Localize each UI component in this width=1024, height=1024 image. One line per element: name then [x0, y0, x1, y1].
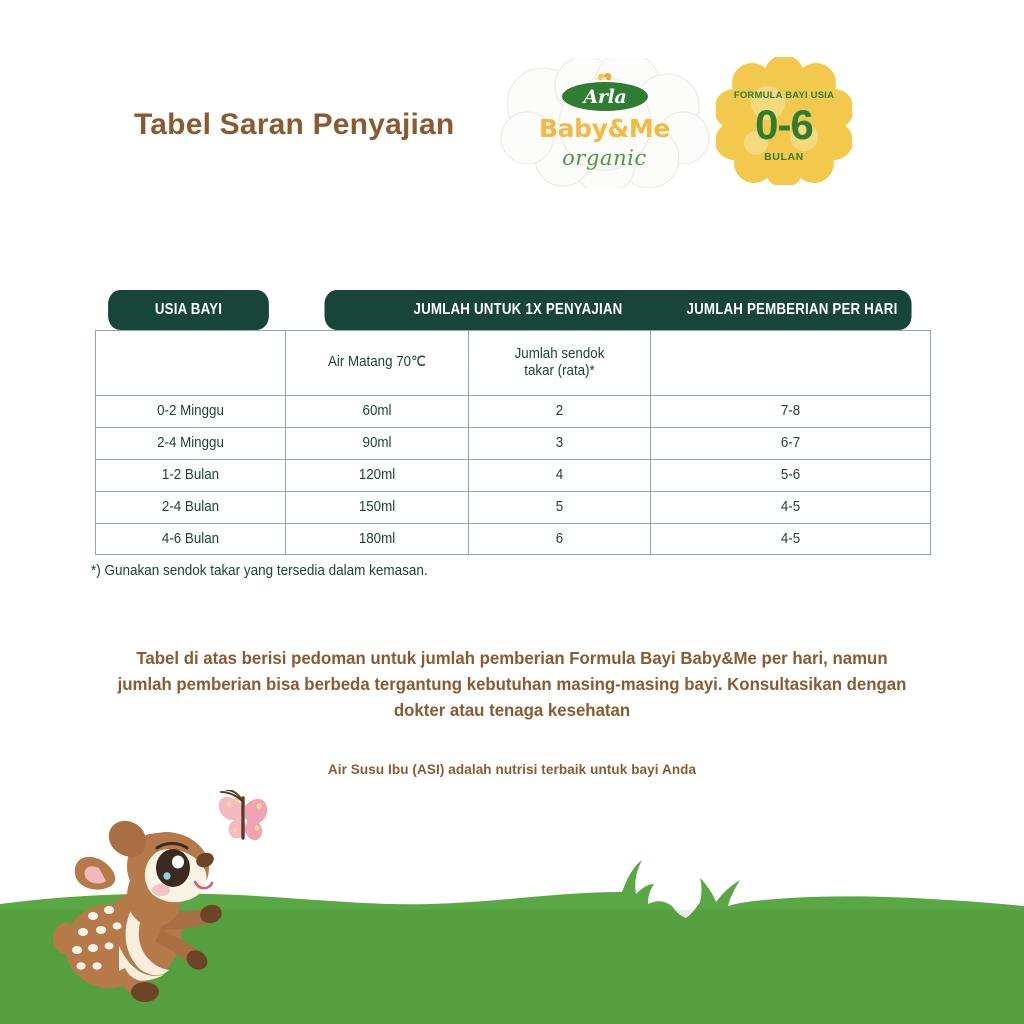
- organic-wordmark: organic: [497, 146, 712, 170]
- table-row: 150ml: [293, 491, 460, 523]
- footer-illustration: [0, 780, 1024, 1024]
- table-footnote: *) Gunakan sendok takar yang tersedia da…: [91, 563, 428, 579]
- table-row: 180ml: [293, 523, 460, 554]
- table-row: 90ml: [293, 427, 460, 459]
- age-badge: FORMULA BAYI USIA 0-6 BULAN: [716, 57, 852, 185]
- table-row: 6: [476, 523, 643, 554]
- guidance-paragraph: Tabel di atas berisi pedoman untuk jumla…: [109, 645, 915, 723]
- table-grid: Air Matang 70℃ Jumlah sendok takar (rata…: [95, 330, 931, 555]
- page-header: Tabel Saran Penyajian: [0, 0, 1024, 200]
- badge-top-label: FORMULA BAYI USIA: [716, 90, 852, 101]
- butterfly-icon: [219, 790, 267, 840]
- table-divider-1: [285, 330, 286, 555]
- table-header-jumlah-penyajian: JUMLAH UNTUK 1X PENYAJIAN: [325, 290, 712, 330]
- subheader-sendok-takar: Jumlah sendok takar (rata)*: [476, 330, 643, 395]
- page-title: Tabel Saran Penyajian: [134, 108, 454, 142]
- table-row: 4-6 Bulan: [104, 523, 278, 554]
- table-row: 2-4 Minggu: [104, 427, 278, 459]
- table-border-left: [95, 330, 96, 555]
- table-row: 5-6: [662, 459, 919, 491]
- table-header-usia-bayi: USIA BAYI: [108, 290, 269, 330]
- subheader-sendok-line2: takar (rata)*: [524, 363, 594, 380]
- babyme-wordmark: Baby&Me: [497, 114, 712, 143]
- table-divider-3: [650, 330, 651, 555]
- table-row: 60ml: [293, 395, 460, 427]
- badge-age-range: 0-6: [716, 102, 852, 148]
- subheader-sendok-line1: Jumlah sendok: [515, 346, 605, 363]
- serving-table: USIA BAYI JUMLAH UNTUK 1X PENYAJIAN JUML…: [95, 290, 931, 555]
- table-row: 2-4 Bulan: [104, 491, 278, 523]
- arla-wordmark: Arla: [562, 82, 648, 111]
- arla-logo-oval: Arla: [560, 80, 650, 113]
- table-row: 6-7: [662, 427, 919, 459]
- table-row: 0-2 Minggu: [104, 395, 278, 427]
- table-header-pemberian-per-hari: JUMLAH PEMBERIAN PER HARI: [672, 290, 911, 330]
- asi-disclaimer: Air Susu Ibu (ASI) adalah nutrisi terbai…: [92, 762, 932, 777]
- table-row: 1-2 Bulan: [104, 459, 278, 491]
- table-row: 120ml: [293, 459, 460, 491]
- badge-bottom-label: BULAN: [716, 151, 852, 163]
- table-row: 4-5: [662, 523, 919, 554]
- table-row: 4: [476, 459, 643, 491]
- table-row: 5: [476, 491, 643, 523]
- table-divider-2: [468, 330, 469, 555]
- fawn-illustration: [45, 790, 285, 1010]
- subheader-air-matang: Air Matang 70℃: [293, 330, 460, 395]
- table-row: 2: [476, 395, 643, 427]
- table-row: 3: [476, 427, 643, 459]
- table-rule-bottom: [95, 554, 931, 555]
- table-row: 7-8: [662, 395, 919, 427]
- table-border-right: [930, 330, 931, 555]
- table-row: 4-5: [662, 491, 919, 523]
- brand-logo: Arla Baby&Me organic: [497, 58, 712, 188]
